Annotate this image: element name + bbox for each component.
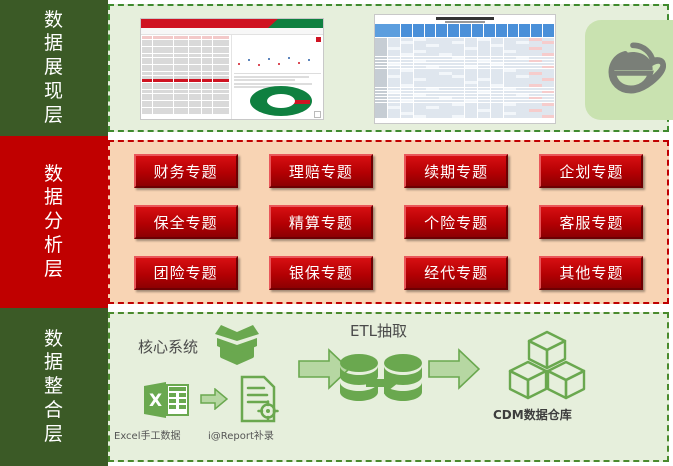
topic-button-agency[interactable]: 经代专题	[404, 256, 508, 290]
dashboard-data-table	[141, 35, 232, 120]
internet-explorer-icon	[600, 39, 666, 102]
ireport-source-label: i@Report补录	[208, 426, 274, 444]
topic-button-customer-care[interactable]: 客服专题	[539, 205, 643, 239]
topic-button-individual[interactable]: 个险专题	[404, 205, 508, 239]
topic-row: 财务专题 理赔专题 续期专题 企划专题	[118, 146, 659, 197]
document-gear-icon	[238, 374, 280, 429]
spreadsheet-column-headers	[375, 24, 555, 38]
topic-button-group-insurance[interactable]: 团险专题	[134, 256, 238, 290]
integration-layer-label: 数 据 整 合 层	[0, 308, 108, 466]
arrow-right-icon	[428, 348, 480, 395]
analysis-layer-label: 数 据 分 析 层	[0, 136, 108, 308]
open-box-icon	[210, 322, 264, 371]
label-char: 据	[44, 32, 64, 56]
spreadsheet-grid	[375, 38, 555, 124]
excel-file-icon: X	[142, 376, 190, 429]
svg-text:X: X	[149, 391, 162, 411]
etl-label: ETL抽取	[350, 320, 407, 341]
spreadsheet-title	[375, 17, 555, 24]
topic-button-renewal[interactable]: 续期专题	[404, 154, 508, 188]
label-char: 分	[44, 210, 64, 234]
topic-row: 保全专题 精算专题 个险专题 客服专题	[118, 197, 659, 248]
presentation-layer-content	[108, 4, 669, 132]
topic-row: 团险专题 银保专题 经代专题 其他专题	[118, 247, 659, 298]
dashboard-report-screenshot[interactable]	[140, 18, 324, 120]
label-char: 合	[44, 399, 64, 423]
dashboard-header-text	[141, 19, 323, 21]
topic-button-other[interactable]: 其他专题	[539, 256, 643, 290]
analysis-layer-content: 财务专题 理赔专题 续期专题 企划专题 保全专题 精算专题 个险专题 客服专题 …	[108, 140, 669, 304]
architecture-diagram: 数 据 展 现 层	[0, 0, 673, 466]
presentation-layer-label: 数 据 展 现 层	[0, 0, 108, 136]
label-char: 数	[44, 328, 64, 352]
integration-layer-content: 核心系统 X	[108, 312, 669, 462]
label-char: 整	[44, 375, 64, 399]
label-char: 据	[44, 351, 64, 375]
database-transfer-icon	[338, 352, 424, 419]
label-char: 层	[44, 258, 64, 282]
topic-button-policy-service[interactable]: 保全专题	[134, 205, 238, 239]
topic-button-actuarial[interactable]: 精算专题	[269, 205, 373, 239]
arrow-right-icon	[200, 388, 228, 415]
dashboard-expand-icon[interactable]	[314, 111, 321, 118]
core-system-label-wrap: 核心系统	[138, 336, 198, 357]
topic-button-claims[interactable]: 理赔专题	[269, 154, 373, 188]
topic-button-bancassurance[interactable]: 银保专题	[269, 256, 373, 290]
topic-button-finance[interactable]: 财务专题	[134, 154, 238, 188]
label-char: 据	[44, 186, 64, 210]
core-system-label: 核心系统	[138, 338, 198, 356]
spreadsheet-report-screenshot[interactable]	[374, 14, 556, 124]
integration-layer: 数 据 整 合 层 核心系统	[0, 308, 673, 466]
cubes-stack-icon	[506, 330, 588, 405]
presentation-layer: 数 据 展 现 层	[0, 0, 673, 136]
label-char: 数	[44, 9, 64, 33]
excel-source-label: Excel手工数据	[114, 426, 181, 444]
dashboard-donut-chart	[250, 86, 312, 116]
label-char: 数	[44, 163, 64, 187]
label-char: 展	[44, 56, 64, 80]
dashboard-header-bar	[141, 19, 323, 28]
label-char: 析	[44, 234, 64, 258]
dashboard-line-chart	[234, 45, 321, 74]
client-access-panel	[585, 20, 673, 120]
dashboard-subheader	[141, 28, 323, 35]
dashboard-charts	[232, 35, 323, 120]
analysis-layer: 数 据 分 析 层 财务专题 理赔专题 续期专题 企划专题 保全专题 精算专题 …	[0, 136, 673, 308]
label-char: 层	[44, 423, 64, 447]
label-char: 现	[44, 80, 64, 104]
topic-button-planning[interactable]: 企划专题	[539, 154, 643, 188]
dashboard-close-icon[interactable]	[316, 37, 321, 42]
warehouse-label: CDM数据仓库	[493, 406, 572, 424]
dashboard-body	[141, 35, 323, 120]
label-char: 层	[44, 104, 64, 128]
